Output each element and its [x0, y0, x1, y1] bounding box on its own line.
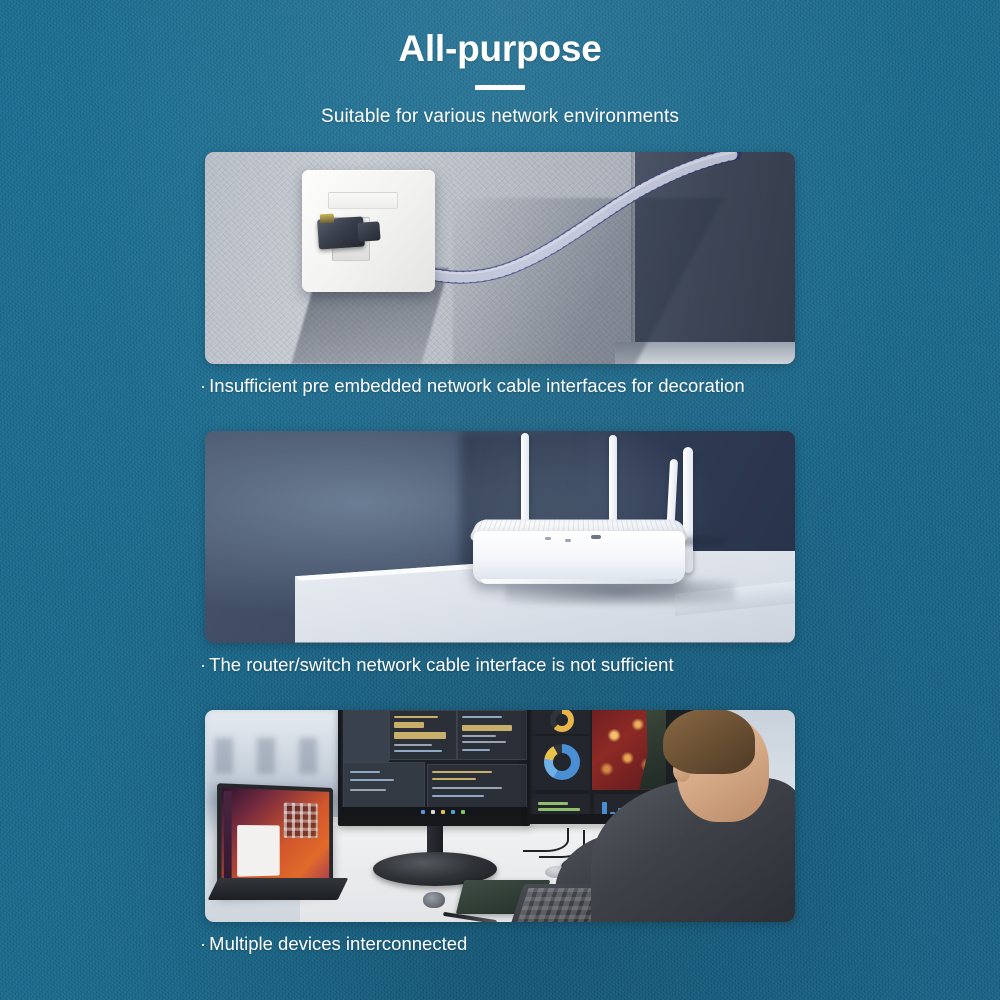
dash-card-donut-main — [532, 736, 590, 790]
dash-card-donut-top — [532, 710, 590, 734]
person-hair — [663, 710, 755, 774]
monitor-left — [338, 710, 530, 826]
title-divider — [475, 85, 525, 90]
code-panel-console — [427, 764, 527, 812]
page-header: All-purpose Suitable for various network… — [0, 0, 1000, 128]
dash-card-bars-1 — [532, 794, 590, 814]
product-feature-page: All-purpose Suitable for various network… — [0, 0, 1000, 1000]
router-body — [473, 531, 685, 583]
monitor-left-screen — [341, 710, 527, 816]
page-title: All-purpose — [0, 28, 1000, 71]
router-led-1 — [545, 537, 551, 540]
dash-heatmap — [592, 710, 666, 790]
windows-taskbar — [341, 807, 527, 816]
scene-workstation: ·Multiple devices interconnected — [0, 710, 1000, 955]
heatmap-landmass — [633, 710, 666, 790]
caption-text: Multiple devices interconnected — [209, 933, 467, 954]
caption-router: ·The router/switch network cable interfa… — [200, 643, 800, 676]
bullet-icon: · — [200, 654, 206, 675]
scene-wall-socket: ·Insufficient pre embedded network cable… — [0, 152, 1000, 397]
page-subtitle: Suitable for various network environment… — [0, 106, 1000, 128]
ubuntu-app-grid — [284, 802, 318, 837]
caption-wall-socket: ·Insufficient pre embedded network cable… — [200, 364, 800, 397]
photo-router — [205, 431, 795, 643]
scene-router: ·The router/switch network cable interfa… — [0, 431, 1000, 676]
rj45-boot — [357, 221, 380, 241]
router-base — [481, 579, 677, 584]
caption-workstation: ·Multiple devices interconnected — [200, 922, 800, 955]
scene-spacer — [0, 676, 1000, 710]
bullet-icon: · — [200, 375, 206, 396]
laptop-base — [208, 878, 349, 900]
ubuntu-dock — [224, 791, 232, 887]
caption-text: Insufficient pre embedded network cable … — [209, 375, 744, 396]
caption-text: The router/switch network cable interfac… — [209, 654, 673, 675]
plate-label-slot — [328, 192, 398, 209]
scene-list: ·Insufficient pre embedded network cable… — [0, 152, 1000, 955]
rj45-contacts — [320, 213, 335, 223]
router-led-3 — [591, 535, 601, 539]
ubuntu-file-window — [237, 825, 280, 877]
code-panel-right — [457, 710, 527, 760]
photo-wall-socket — [205, 152, 795, 364]
scene-spacer — [0, 397, 1000, 431]
bullet-icon: · — [200, 933, 206, 954]
router-led-2 — [565, 539, 571, 542]
rj45-connector — [317, 216, 365, 249]
code-panel-main — [389, 710, 457, 760]
wristwatch — [423, 892, 445, 908]
network-cable — [205, 152, 795, 364]
photo-workstation — [205, 710, 795, 922]
